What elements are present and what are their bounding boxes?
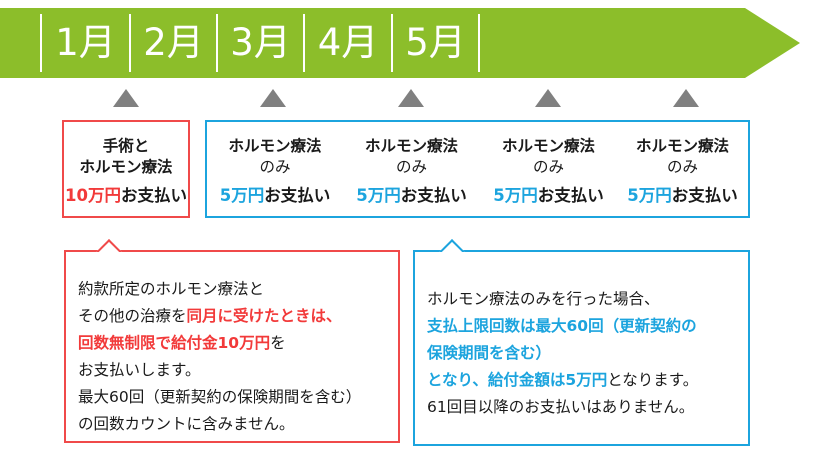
treatment-cell: 手術と ホルモン療法 10万円お支払い [64,122,188,220]
callout-pointer [90,237,126,252]
timeline-month-1: 1月 [42,8,129,78]
callout-text: ホルモン療法のみを行った場合、 支払上限回数は最大60回（更新契約の 保険期間を… [427,286,740,421]
timeline-month-5: 5月 [393,8,478,78]
payment-amount: 5万円 [356,186,400,205]
callout-line: ホルモン療法のみを行った場合、 [427,286,740,313]
callout-line: となり、給付金額は5万円となります。 [427,367,740,394]
month-marker-triangle-3 [398,89,424,107]
treatment-box-hormone-group: ホルモン療法 のみ 5万円お支払い ホルモン療法 のみ 5万円お支払い ホルモン… [205,120,750,218]
callout-line-emphasis: 回数無制限で給付金10万円 [78,334,270,352]
treatment-cell: ホルモン療法 のみ 5万円お支払い [343,122,480,220]
treatment-line-2: のみ [259,157,290,178]
timeline-month-3: 3月 [218,8,303,78]
treatment-line-2: ホルモン療法 [79,157,172,178]
month-marker-triangle-5 [673,89,699,107]
callout-hormone-note: ホルモン療法のみを行った場合、 支払上限回数は最大60回（更新契約の 保険期間を… [413,250,750,446]
treatment-line-1: 手術と [103,136,150,157]
month-marker-triangle-4 [535,89,561,107]
month-marker-triangle-1 [113,89,139,107]
payment-suffix: お支払い [538,186,604,205]
treatment-payment: 5万円お支払い [493,185,603,206]
month-marker-triangle-2 [260,89,286,107]
treatment-line-1: ホルモン療法 [228,136,321,157]
treatment-line-1: ホルモン療法 [502,136,595,157]
treatment-line-2: のみ [667,157,698,178]
callout-line-emphasis: 同月に受けたときは、 [187,307,342,325]
payment-suffix: お支払い [401,186,467,205]
payment-suffix: お支払い [121,186,187,205]
callout-line: その他の治療を同月に受けたときは、 [78,303,390,330]
callout-line-tail: を [270,334,286,352]
payment-suffix: お支払い [264,186,330,205]
callout-line: 回数無制限で給付金10万円を [78,330,390,357]
callout-line: お支払いします。 [78,357,390,384]
treatment-cell: ホルモン療法 のみ 5万円お支払い [207,122,343,220]
callout-line: 最大60回（更新契約の保険期間を含む） [78,384,390,411]
payment-amount: 5万円 [220,186,264,205]
timeline-divider [478,14,480,72]
payment-amount: 10万円 [65,186,121,205]
treatment-payment: 10万円お支払い [65,185,187,206]
timeline-month-4: 4月 [305,8,391,78]
treatment-cell: ホルモン療法 のみ 5万円お支払い [480,122,617,220]
treatment-payment: 5万円お支払い [220,185,330,206]
callout-surgery-note: 約款所定のホルモン療法と その他の治療を同月に受けたときは、 回数無制限で給付金… [64,250,400,443]
treatment-line-1: ホルモン療法 [365,136,458,157]
callout-pointer [433,237,469,252]
callout-line: 支払上限回数は最大60回（更新契約の [427,313,740,340]
callout-line: 約款所定のホルモン療法と [78,276,390,303]
callout-line: 保険期間を含む） [427,340,740,367]
callout-line: 61回目以降のお支払いはありません。 [427,394,740,421]
payment-amount: 5万円 [493,186,537,205]
callout-line-tail: となります。 [607,371,698,389]
treatment-line-1: ホルモン療法 [636,136,729,157]
treatment-line-2: のみ [533,157,564,178]
treatment-payment: 5万円お支払い [627,185,737,206]
callout-line-plain: その他の治療を [78,307,187,325]
treatment-box-surgery: 手術と ホルモン療法 10万円お支払い [62,120,190,218]
payment-suffix: お支払い [672,186,738,205]
treatment-line-2: のみ [396,157,427,178]
callout-line-emphasis: となり、給付金額は5万円 [427,371,607,389]
treatment-payment: 5万円お支払い [356,185,466,206]
callout-line: の回数カウントに含みません。 [78,411,390,438]
timeline-month-2: 2月 [131,8,216,78]
timeline-arrow: 1月 2月 3月 4月 5月 [0,8,800,78]
treatment-cell: ホルモン療法 のみ 5万円お支払い [617,122,748,220]
payment-amount: 5万円 [627,186,671,205]
callout-text: 約款所定のホルモン療法と その他の治療を同月に受けたときは、 回数無制限で給付金… [78,276,390,438]
